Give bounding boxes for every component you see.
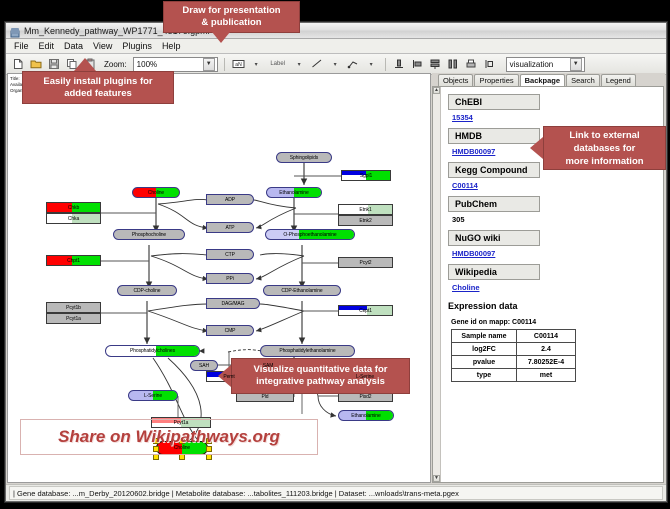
node-label: PPi <box>226 276 233 282</box>
share-text: Share on Wikipathways.org <box>58 427 280 447</box>
node-ethanolamine-top[interactable]: Ethanolamine <box>266 187 322 198</box>
node-label: CMP <box>225 328 236 334</box>
distribute-icon[interactable] <box>446 57 461 72</box>
cell-key: log2FC <box>452 343 517 356</box>
node-label: Pcyt1a <box>174 420 189 426</box>
node-label: ATP <box>225 225 234 231</box>
label-dropdown-icon[interactable]: ▾ <box>292 57 307 72</box>
scroll-up-icon[interactable]: ▲ <box>433 87 440 94</box>
node-label: Pisd2 <box>359 394 371 400</box>
node-label: Pcyt1a <box>66 316 81 322</box>
node-dag-mag[interactable]: DAG/MAG <box>206 298 260 309</box>
node-pcyt2[interactable]: Pcyt2 <box>338 257 393 268</box>
node-label: Sgpl1 <box>360 173 372 179</box>
tab-properties[interactable]: Properties <box>474 74 518 86</box>
expression-table: Sample name C00114 log2FC 2.4 pvalue 7.8… <box>451 329 576 382</box>
cell-value: 7.80252E-4 <box>517 356 576 369</box>
node-label: CDP-choline <box>134 288 161 294</box>
visualization-value: visualization <box>510 60 554 69</box>
zoom-combo[interactable]: 100% ▼ <box>133 57 218 72</box>
node-label: L-Serine <box>144 393 162 399</box>
toolbar-separator-2 <box>385 58 386 71</box>
svg-text:aN: aN <box>235 62 242 68</box>
visualization-combo[interactable]: visualization ▼ <box>506 57 585 72</box>
node-label: Pemt <box>223 374 234 380</box>
section-heading-nugo: NuGO wiki <box>448 230 540 246</box>
node-sah[interactable]: SAH <box>190 360 218 371</box>
node-label: Etnk2 <box>359 218 371 224</box>
cell-key: pvalue <box>452 356 517 369</box>
link-chebi[interactable]: 15354 <box>452 113 655 122</box>
callout-draw-arrow-icon <box>212 32 230 43</box>
align-top-icon[interactable] <box>392 57 407 72</box>
menu-bar: File Edit Data View Plugins Help <box>6 39 666 54</box>
node-phosphatidylethanolamine[interactable]: Phosphatidylethanolamine <box>260 345 355 357</box>
section-heading-pubchem: PubChem <box>448 196 540 212</box>
backpage-scrollbar[interactable]: ▲ ▼ <box>433 87 441 482</box>
node-choline[interactable]: Choline <box>132 187 180 198</box>
line-dropdown-icon[interactable]: ▾ <box>328 57 343 72</box>
callout-share-wikipathways: Share on Wikipathways.org <box>20 419 318 455</box>
node-label: Ethanolamine <box>279 190 308 196</box>
node-chpt1[interactable]: Chpt1 <box>46 255 101 266</box>
node-cept1[interactable]: Cept1 <box>338 305 393 316</box>
datanode-tool-icon[interactable]: aN <box>231 57 246 72</box>
node-label: L-Serine <box>356 374 374 380</box>
node-label: Chka <box>68 216 79 222</box>
callout-links-arrow-icon <box>530 137 543 159</box>
node-label: Etnk1 <box>359 207 371 213</box>
node-label: Choline <box>148 190 164 196</box>
node-atp[interactable]: ATP <box>206 222 254 233</box>
node-label: Pcyt2 <box>359 260 371 266</box>
callout-text: Draw for presentation& publication <box>182 5 280 29</box>
node-cmp[interactable]: CMP <box>206 325 254 336</box>
node-sgpl1[interactable]: Sgpl1 <box>341 170 391 181</box>
menu-data[interactable]: Data <box>59 41 88 51</box>
node-label: DAG/MAG <box>222 301 245 307</box>
size-icon[interactable] <box>482 57 497 72</box>
node-label: Ethanolamine <box>351 413 380 419</box>
section-heading-wikipedia: Wikipedia <box>448 264 540 280</box>
expression-data-title: Expression data <box>448 301 655 311</box>
menu-view[interactable]: View <box>88 41 117 51</box>
label-tool-icon[interactable]: Label <box>267 57 289 72</box>
scroll-down-icon[interactable]: ▼ <box>433 475 440 482</box>
menu-file[interactable]: File <box>9 41 34 51</box>
node-ctp[interactable]: CTP <box>206 249 254 260</box>
node-ppi[interactable]: PPi <box>206 273 254 284</box>
node-l-serine-left[interactable]: L-Serine <box>128 390 178 401</box>
side-panel-tabs: Objects Properties Backpage Search Legen… <box>432 73 665 86</box>
open-file-icon[interactable] <box>28 57 43 72</box>
node-label: Chkb <box>68 205 79 211</box>
table-row: Sample name C00114 <box>452 330 576 343</box>
node-label: SAM <box>263 363 274 369</box>
menu-plugins[interactable]: Plugins <box>117 41 157 51</box>
status-bar: | Gene database: ...m_Derby_20120602.bri… <box>6 484 666 501</box>
cell-value: C00114 <box>517 330 576 343</box>
zoom-value: 100% <box>137 60 157 69</box>
callout-install-plugins: Easily install plugins foradded features <box>22 71 174 104</box>
node-cdp-choline[interactable]: CDP-choline <box>117 285 177 296</box>
zoom-label: Zoom: <box>104 60 127 69</box>
link-wikipedia[interactable]: Choline <box>452 283 655 292</box>
tab-search[interactable]: Search <box>566 74 600 86</box>
cell-key: type <box>452 369 517 382</box>
gene-id-line: Gene id on mapp: C00114 <box>451 319 655 326</box>
table-row: log2FC 2.4 <box>452 343 576 356</box>
value-pubchem: 305 <box>452 215 655 224</box>
node-chka[interactable]: Chka <box>46 213 101 224</box>
callout-external-links: Link to externaldatabases formore inform… <box>543 126 666 170</box>
node-label: Pcyt1b <box>66 305 81 311</box>
node-adp[interactable]: ADP <box>206 194 254 205</box>
node-ethanolamine-bottom[interactable]: Ethanolamine <box>338 410 394 421</box>
table-row: type met <box>452 369 576 382</box>
table-row: pvalue 7.80252E-4 <box>452 356 576 369</box>
node-label: O-Phosphoethanolamine <box>283 232 336 238</box>
node-o-phosphoethanolamine[interactable]: O-Phosphoethanolamine <box>265 229 355 240</box>
interaction-dropdown-icon[interactable]: ▾ <box>364 57 379 72</box>
status-text: | Gene database: ...m_Derby_20120602.bri… <box>9 486 663 500</box>
cell-key: Sample name <box>452 330 517 343</box>
screenshot-root: Mm_Kennedy_pathway_WP1771_45176.gpml Fil… <box>0 0 670 509</box>
callout-visualize-data: Visualize quantitative data forintegrati… <box>231 358 410 394</box>
callout-draw-for-presentation: Draw for presentation& publication <box>163 1 300 33</box>
menu-edit[interactable]: Edit <box>34 41 60 51</box>
section-heading-hmdb: HMDB <box>448 128 540 144</box>
node-pcyt1a[interactable]: Pcyt1a <box>46 313 101 324</box>
interaction-tool-icon[interactable] <box>346 57 361 72</box>
new-file-icon[interactable] <box>10 57 25 72</box>
link-nugo[interactable]: HMDB00097 <box>452 249 655 258</box>
line-tool-icon[interactable] <box>310 57 325 72</box>
tab-objects[interactable]: Objects <box>438 74 473 86</box>
stack-vertical-icon[interactable] <box>428 57 443 72</box>
title-bar: Mm_Kennedy_pathway_WP1771_45176.gpml <box>6 23 666 39</box>
node-label: CDP-Ethanolamine <box>281 288 322 294</box>
node-label: ADP <box>225 197 235 203</box>
node-label: Phosphatidylethanolamine <box>279 348 335 354</box>
node-phosphocholine[interactable]: Phosphocholine <box>113 229 185 240</box>
node-phosphatidylcholines[interactable]: Phosphatidylcholines <box>105 345 200 357</box>
node-chkb[interactable]: Chkb <box>46 202 101 213</box>
cell-value: met <box>517 369 576 382</box>
callout-text: Link to externaldatabases formore inform… <box>565 129 643 168</box>
tab-legend[interactable]: Legend <box>601 74 636 86</box>
callout-text: Easily install plugins foradded features <box>43 76 152 100</box>
app-icon <box>10 26 20 36</box>
node-label: Chpt1 <box>67 258 80 264</box>
node-label: Choline <box>174 445 190 451</box>
align-left-icon[interactable] <box>410 57 425 72</box>
callout-plugins-arrow-icon <box>74 58 96 71</box>
node-label: Pld <box>262 394 269 400</box>
node-label: CTP <box>225 252 235 258</box>
print-icon[interactable] <box>464 57 479 72</box>
toolbar-separator <box>224 58 225 71</box>
node-label: Cept1 <box>359 308 372 314</box>
node-label: Phosphocholine <box>132 232 166 238</box>
save-file-icon[interactable] <box>46 57 61 72</box>
node-pcyt1b[interactable]: Pcyt1b <box>46 302 101 313</box>
datanode-dropdown-icon[interactable]: ▾ <box>249 57 264 72</box>
section-heading-kegg: Kegg Compound <box>448 162 540 178</box>
node-etnk1[interactable]: Etnk1 <box>338 204 393 215</box>
node-sphingolipids[interactable]: Sphingolipids <box>276 152 332 163</box>
link-kegg[interactable]: C00114 <box>452 181 655 190</box>
chevron-down-icon-2[interactable]: ▼ <box>570 58 582 71</box>
node-label: Sphingolipids <box>290 155 318 161</box>
node-label: Phosphatidylcholines <box>130 348 175 354</box>
node-label: SAH <box>199 363 209 369</box>
chevron-down-icon[interactable]: ▼ <box>203 58 215 71</box>
node-cdp-ethanolamine[interactable]: CDP-Ethanolamine <box>263 285 341 296</box>
node-etnk2[interactable]: Etnk2 <box>338 215 393 226</box>
cell-value: 2.4 <box>517 343 576 356</box>
section-heading-chebi: ChEBI <box>448 94 540 110</box>
menu-help[interactable]: Help <box>157 41 186 51</box>
